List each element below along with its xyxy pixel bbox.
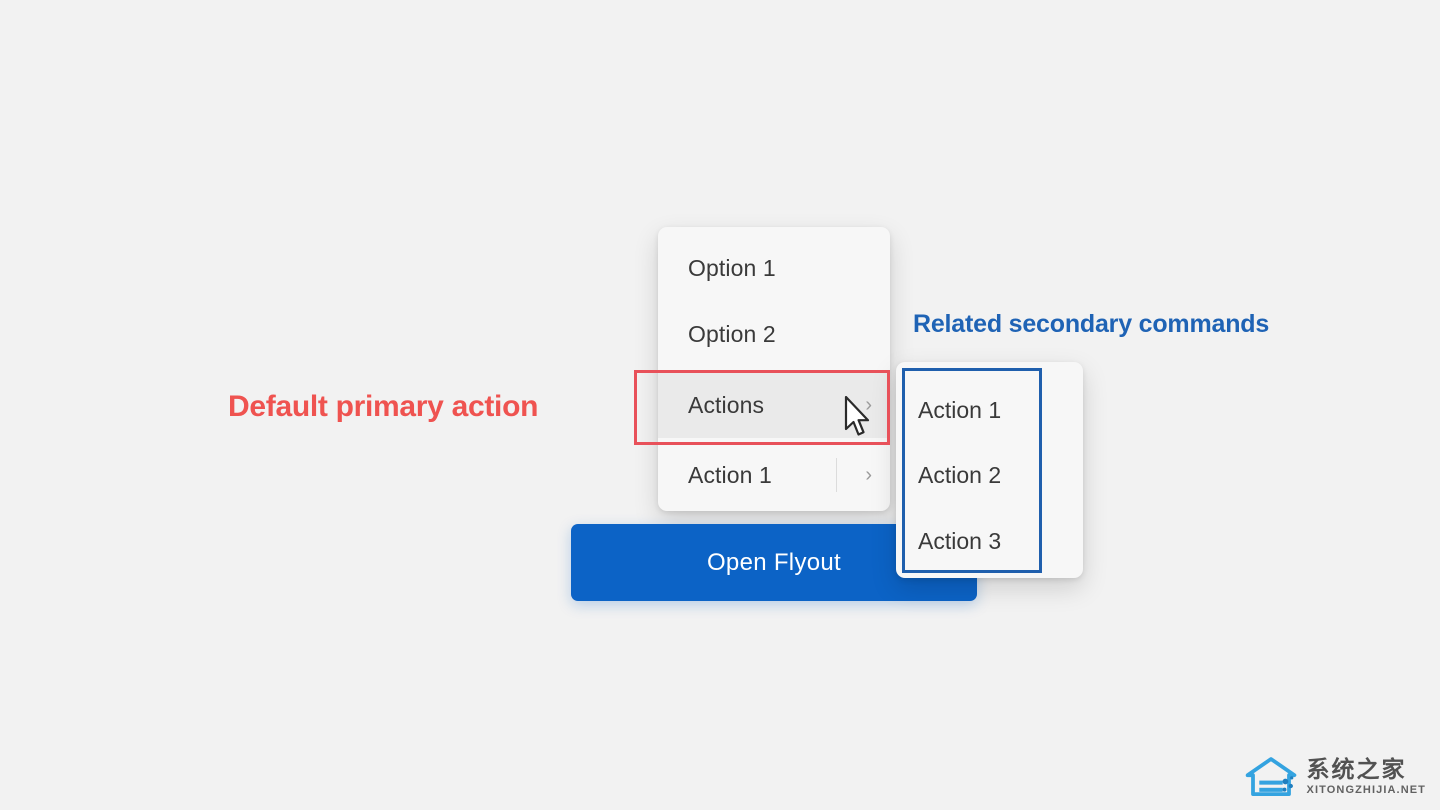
menu-item-label: Action 1	[688, 462, 772, 489]
open-flyout-button-label: Open Flyout	[707, 549, 841, 577]
watermark-cn-text: 系统之家	[1307, 758, 1426, 781]
menu-item-actions[interactable]: Actions ›	[658, 372, 890, 438]
menu-item-label: Option 2	[688, 321, 776, 348]
submenu-item-label: Action 2	[918, 462, 1001, 489]
actions-submenu: Action 1 Action 2 Action 3	[896, 362, 1083, 578]
submenu-item-label: Action 1	[918, 397, 1001, 424]
menu-item-label: Actions	[688, 392, 764, 419]
annotation-primary-action: Default primary action	[228, 390, 538, 424]
annotation-secondary-commands: Related secondary commands	[913, 310, 1269, 339]
flyout-menu: Option 1 Option 2 Actions › Action 1 ›	[658, 227, 890, 511]
menu-item-label: Option 1	[688, 255, 776, 282]
house-logo-icon	[1244, 756, 1298, 798]
submenu-item-action-2[interactable]: Action 2	[896, 449, 1083, 501]
menu-item-option-1[interactable]: Option 1	[658, 235, 890, 301]
watermark-en-text: XITONGZHIJIA.NET	[1307, 785, 1426, 796]
chevron-right-icon[interactable]: ›	[865, 395, 872, 415]
submenu-item-action-1[interactable]: Action 1	[896, 384, 1083, 436]
menu-item-separator	[836, 458, 837, 492]
menu-item-option-2[interactable]: Option 2	[658, 301, 890, 367]
chevron-right-icon[interactable]: ›	[865, 465, 872, 485]
submenu-item-action-3[interactable]: Action 3	[896, 515, 1083, 567]
watermark-texts: 系统之家 XITONGZHIJIA.NET	[1307, 758, 1426, 796]
watermark: 系统之家 XITONGZHIJIA.NET	[1244, 756, 1426, 798]
menu-item-action-1[interactable]: Action 1 ›	[658, 442, 890, 508]
canvas: Option 1 Option 2 Actions › Action 1 › O…	[0, 0, 1440, 810]
submenu-item-label: Action 3	[918, 528, 1001, 555]
